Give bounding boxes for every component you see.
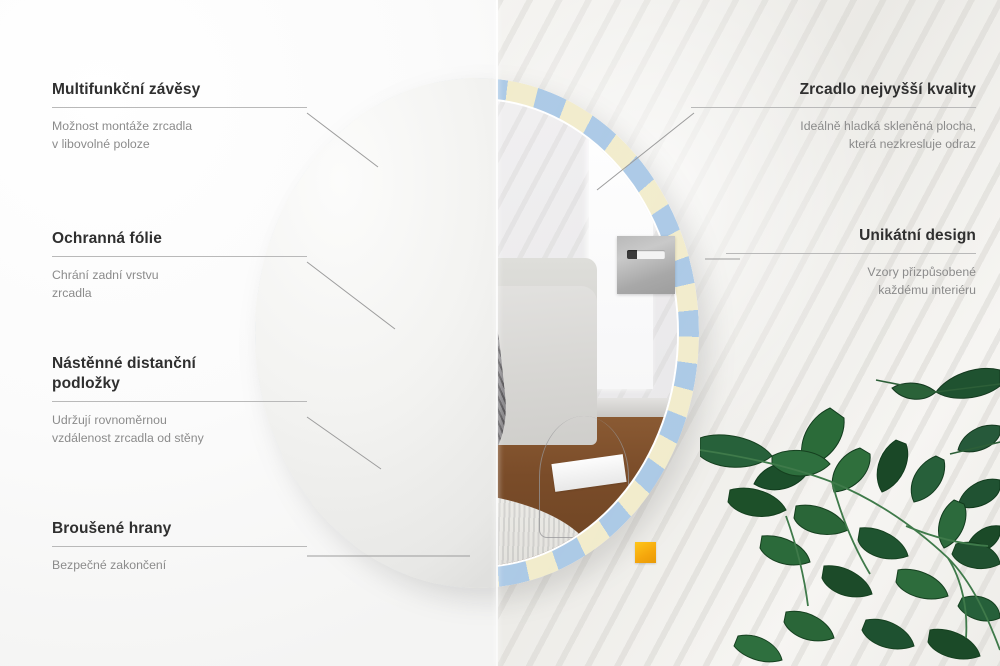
- feature-design: Unikátní design Vzory přizpůsobené každé…: [726, 226, 976, 299]
- view-split-divider: [496, 0, 498, 666]
- hanger-bracket: [617, 236, 675, 294]
- feature-quality-desc: Ideálně hladká skleněná plocha, která ne…: [691, 117, 976, 153]
- feature-design-desc: Vzory přizpůsobené každému interiéru: [726, 263, 976, 299]
- feature-quality-rule: [691, 107, 976, 108]
- feature-foil: Ochranná fólie Chrání zadní vrstvu zrcad…: [52, 229, 307, 302]
- feature-quality: Zrcadlo nejvyšší kvality Ideálně hladká …: [691, 80, 976, 153]
- feature-design-rule: [726, 253, 976, 254]
- spacer-pad: [635, 542, 656, 563]
- feature-foil-desc: Chrání zadní vrstvu zrcadla: [52, 266, 307, 302]
- feature-spacers-desc: Udržují rovnoměrnou vzdálenost zrcadla o…: [52, 411, 307, 447]
- mirror-back-surface: [255, 78, 497, 588]
- hanger-slot-icon: [627, 250, 665, 259]
- mirror-body: [255, 78, 699, 588]
- feature-hangers-title: Multifunkční závěsy: [52, 80, 307, 100]
- feature-edges: Broušené hrany Bezpečné zakončení: [52, 519, 307, 574]
- foreground-plant: [700, 330, 1000, 666]
- feature-spacers-title: Nástěnné distanční podložky: [52, 354, 307, 394]
- feature-foil-rule: [52, 256, 307, 257]
- feature-hangers-desc: Možnost montáže zrcadla v libovolné polo…: [52, 117, 307, 153]
- feature-spacers: Nástěnné distanční podložky Udržují rovn…: [52, 354, 307, 447]
- product-feature-infographic: Multifunkční závěsy Možnost montáže zrca…: [0, 0, 1000, 666]
- feature-spacers-rule: [52, 401, 307, 402]
- feature-edges-title: Broušené hrany: [52, 519, 307, 539]
- feature-foil-title: Ochranná fólie: [52, 229, 307, 249]
- mirror-illustration: [255, 78, 699, 588]
- feature-edges-rule: [52, 546, 307, 547]
- feature-quality-title: Zrcadlo nejvyšší kvality: [691, 80, 976, 100]
- feature-edges-desc: Bezpečné zakončení: [52, 556, 307, 574]
- feature-design-title: Unikátní design: [726, 226, 976, 246]
- feature-hangers: Multifunkční závěsy Možnost montáže zrca…: [52, 80, 307, 153]
- feature-hangers-rule: [52, 107, 307, 108]
